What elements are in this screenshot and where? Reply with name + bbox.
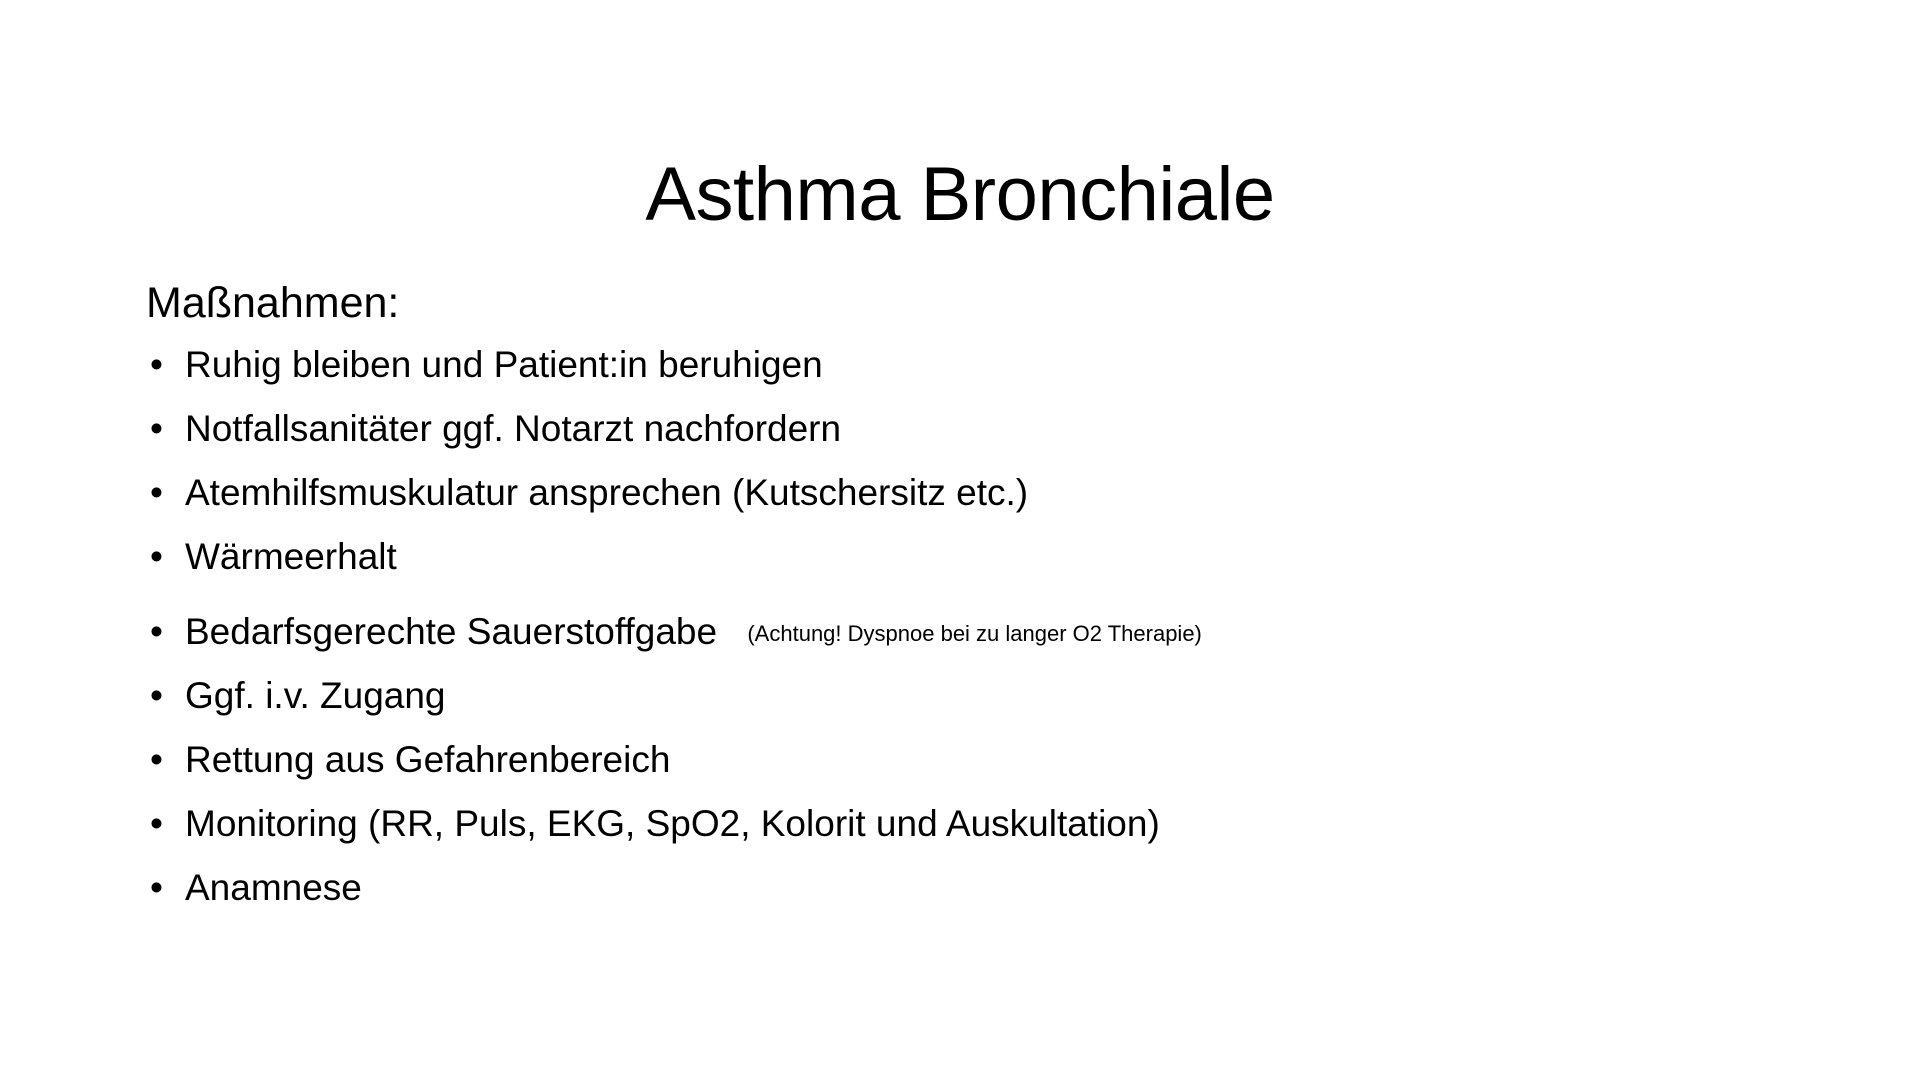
list-item: • Notfallsanitäter ggf. Notarzt nachford…: [146, 408, 1766, 451]
list-item-label: Ruhig bleiben und Patient:in beruhigen: [185, 344, 823, 385]
bullet-dot-icon: •: [150, 408, 163, 451]
bullet-dot-icon: •: [150, 611, 163, 654]
list-item: • Bedarfsgerechte Sauerstoffgabe (Achtun…: [146, 611, 1766, 654]
list-item: • Rettung aus Gefahrenbereich: [146, 739, 1766, 782]
section-heading-massnahmen: Maßnahmen:: [146, 280, 1766, 326]
list-item-label: Monitoring (RR, Puls, EKG, SpO2, Kolorit…: [185, 803, 1160, 844]
bullet-dot-icon: •: [150, 536, 163, 579]
list-item: • Ruhig bleiben und Patient:in beruhigen: [146, 344, 1766, 387]
bullet-dot-icon: •: [150, 344, 163, 387]
slide-body: Maßnahmen: • Ruhig bleiben und Patient:i…: [146, 280, 1766, 931]
measures-bullet-list: • Ruhig bleiben und Patient:in beruhigen…: [146, 344, 1766, 909]
list-item-label: Atemhilfsmuskulatur ansprechen (Kutscher…: [185, 472, 1028, 513]
list-item: • Monitoring (RR, Puls, EKG, SpO2, Kolor…: [146, 803, 1766, 846]
bullet-dot-icon: •: [150, 675, 163, 718]
list-item-label: Rettung aus Gefahrenbereich: [185, 739, 670, 780]
list-item: • Ggf. i.v. Zugang: [146, 675, 1766, 718]
list-item-label: Bedarfsgerechte Sauerstoffgabe: [185, 611, 717, 652]
bullet-dot-icon: •: [150, 739, 163, 782]
list-item-label: Notfallsanitäter ggf. Notarzt nachforder…: [185, 408, 841, 449]
list-item: • Atemhilfsmuskulatur ansprechen (Kutsch…: [146, 472, 1766, 515]
bullet-dot-icon: •: [150, 472, 163, 515]
list-item-label: Anamnese: [185, 867, 362, 908]
list-item-label: Wärmeerhalt: [185, 536, 397, 577]
page-title: Asthma Bronchiale: [0, 155, 1920, 235]
bullet-dot-icon: •: [150, 803, 163, 846]
list-item: • Anamnese: [146, 867, 1766, 910]
list-item: • Wärmeerhalt: [146, 536, 1766, 579]
bullet-dot-icon: •: [150, 867, 163, 910]
list-item-label: Ggf. i.v. Zugang: [185, 675, 446, 716]
presentation-slide: Asthma Bronchiale Maßnahmen: • Ruhig ble…: [0, 0, 1920, 1080]
list-item-note: (Achtung! Dyspnoe bei zu langer O2 Thera…: [747, 621, 1202, 646]
